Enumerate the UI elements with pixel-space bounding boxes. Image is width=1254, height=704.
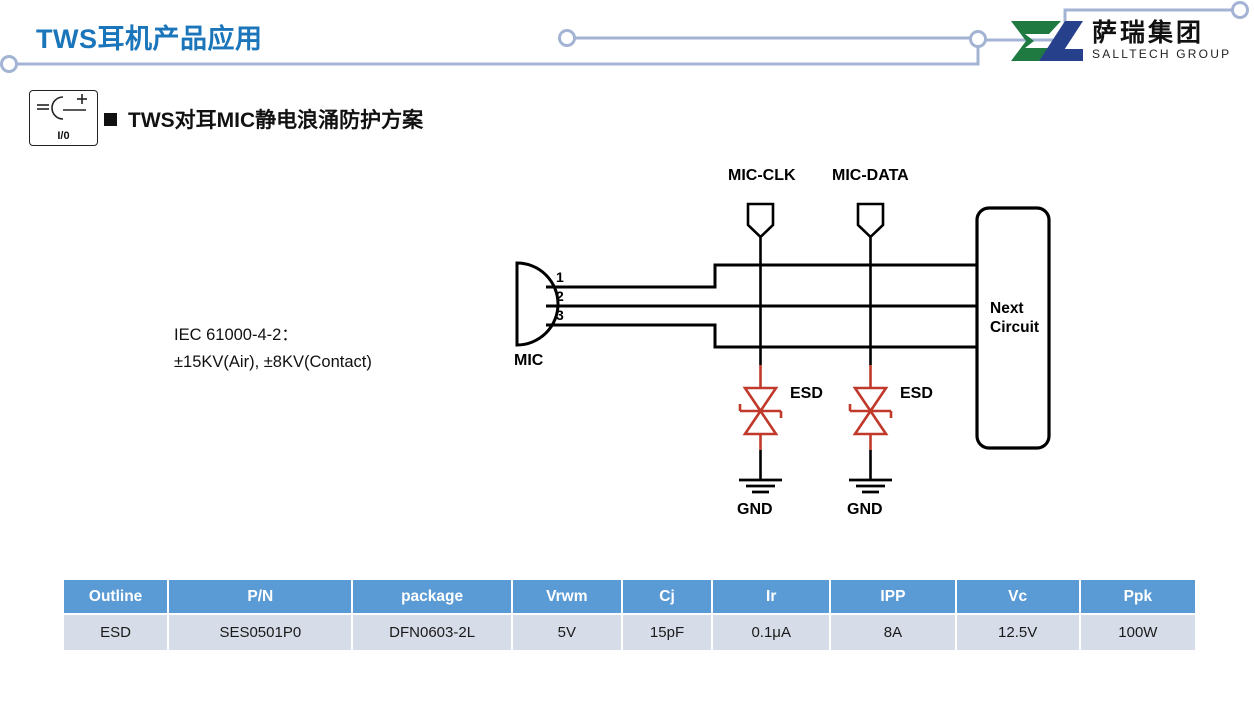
col-header-pn: P/N xyxy=(169,580,351,613)
signal-label-clk: MIC-CLK xyxy=(728,167,796,184)
deco-node-right xyxy=(971,32,986,47)
table-header-row: Outline P/N package Vrwm Cj Ir IPP Vc Pp… xyxy=(64,580,1195,613)
io-symbol-icon xyxy=(30,91,96,131)
esd-diode-clk-icon xyxy=(740,374,781,450)
page-title: TWS耳机产品应用 xyxy=(36,17,263,56)
section-subtitle: TWS对耳MIC静电浪涌防护方案 xyxy=(104,104,423,134)
cell-cj: 15pF xyxy=(623,615,711,650)
next-circuit-line1: Next xyxy=(990,300,1024,317)
col-header-ir: Ir xyxy=(713,580,829,613)
next-circuit-line2: Circuit xyxy=(990,319,1039,336)
esd-label-data: ESD xyxy=(900,385,933,402)
pin-label-3: 3 xyxy=(556,307,564,323)
wire-pin1 xyxy=(546,265,1000,287)
circuit-schematic: 1 2 3 MIC xyxy=(490,160,1090,530)
esd-label-clk: ESD xyxy=(790,385,823,402)
esd-standard-note: IEC 61000-4-2： ±15KV(Air), ±8KV(Contact) xyxy=(174,322,372,375)
ground-symbol-clk-icon xyxy=(739,480,782,492)
gnd-label-clk: GND xyxy=(737,501,773,518)
col-header-outline: Outline xyxy=(64,580,167,613)
col-header-package: package xyxy=(353,580,510,613)
connector-mic-clk-icon xyxy=(748,204,773,237)
ground-symbol-data-icon xyxy=(849,480,892,492)
io-badge: I/0 xyxy=(29,90,98,146)
cell-vrwm: 5V xyxy=(513,615,621,650)
cell-vc: 12.5V xyxy=(957,615,1079,650)
col-header-vrwm: Vrwm xyxy=(513,580,621,613)
esd-standard-line2: ±15KV(Air), ±8KV(Contact) xyxy=(174,349,372,376)
bullet-square-icon xyxy=(104,113,117,126)
slide-canvas: TWS耳机产品应用 萨瑞集团 SALLTECH GROUP I/0 TWS对耳M… xyxy=(0,0,1254,704)
cell-pn: SES0501P0 xyxy=(169,615,351,650)
spec-table: Outline P/N package Vrwm Cj Ir IPP Vc Pp… xyxy=(62,578,1197,652)
pin-label-1: 1 xyxy=(556,269,564,285)
salltech-logo-icon xyxy=(1009,15,1085,67)
mic-connector-icon xyxy=(517,263,558,345)
esd-diode-data-icon xyxy=(850,374,891,450)
io-badge-label: I/0 xyxy=(30,130,97,142)
esd-standard-line1: IEC 61000-4-2： xyxy=(174,322,372,349)
cell-package: DFN0603-2L xyxy=(353,615,510,650)
cell-ppk: 100W xyxy=(1081,615,1195,650)
cell-outline: ESD xyxy=(64,615,167,650)
table-row: ESD SES0501P0 DFN0603-2L 5V 15pF 0.1μA 8… xyxy=(64,615,1195,650)
col-header-ppk: Ppk xyxy=(1081,580,1195,613)
gnd-label-data: GND xyxy=(847,501,883,518)
logo-name-cn: 萨瑞集团 xyxy=(1092,20,1231,47)
signal-label-data: MIC-DATA xyxy=(832,167,909,184)
cell-ipp: 8A xyxy=(831,615,954,650)
mic-label: MIC xyxy=(514,352,544,369)
pin-label-2: 2 xyxy=(556,288,564,304)
section-subtitle-text: TWS对耳MIC静电浪涌防护方案 xyxy=(128,104,423,134)
col-header-ipp: IPP xyxy=(831,580,954,613)
cell-ir: 0.1μA xyxy=(713,615,829,650)
deco-node-mid xyxy=(560,31,575,46)
col-header-vc: Vc xyxy=(957,580,1079,613)
company-logo: 萨瑞集团 SALLTECH GROUP xyxy=(1009,10,1245,72)
connector-mic-data-icon xyxy=(858,204,883,237)
deco-node-left xyxy=(2,57,17,72)
col-header-cj: Cj xyxy=(623,580,711,613)
wire-pin3 xyxy=(546,325,1000,347)
logo-name-en: SALLTECH GROUP xyxy=(1092,48,1231,61)
